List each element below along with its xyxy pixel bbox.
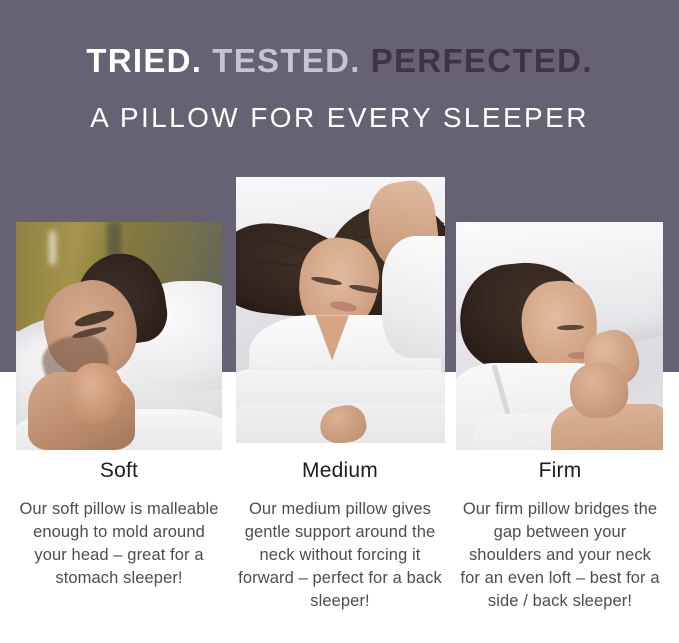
photo-medium (236, 177, 445, 443)
headline-word-perfected: PERFECTED. (371, 42, 593, 79)
person-hand (70, 363, 124, 422)
column-soft: Soft Our soft pillow is malleable enough… (8, 460, 230, 590)
column-description-firm: Our firm pillow bridges the gap between … (449, 498, 671, 613)
page-subtitle: A PILLOW FOR EVERY SLEEPER (0, 104, 679, 132)
photo-firm-scene (456, 222, 663, 450)
page-title: TRIED.TESTED.PERFECTED. (0, 44, 679, 77)
column-title-firm: Firm (449, 460, 671, 481)
column-description-soft: Our soft pillow is malleable enough to m… (8, 498, 230, 590)
column-description-medium: Our medium pillow gives gentle support a… (229, 498, 451, 613)
column-firm: Firm Our firm pillow bridges the gap bet… (449, 460, 671, 613)
robe-sleeve (382, 236, 445, 358)
column-title-soft: Soft (8, 460, 230, 481)
headline-word-tested: TESTED. (212, 42, 360, 79)
headline-word-tried: TRIED. (86, 42, 202, 79)
photo-soft-scene (16, 222, 222, 450)
photo-medium-scene (236, 177, 445, 443)
column-medium: Medium Our medium pillow gives gentle su… (229, 460, 451, 613)
photo-firm (456, 222, 663, 450)
photo-soft (16, 222, 222, 450)
promo-banner: TRIED.TESTED.PERFECTED. A PILLOW FOR EVE… (0, 0, 679, 643)
column-title-medium: Medium (229, 460, 451, 481)
room-lamp (49, 231, 56, 265)
